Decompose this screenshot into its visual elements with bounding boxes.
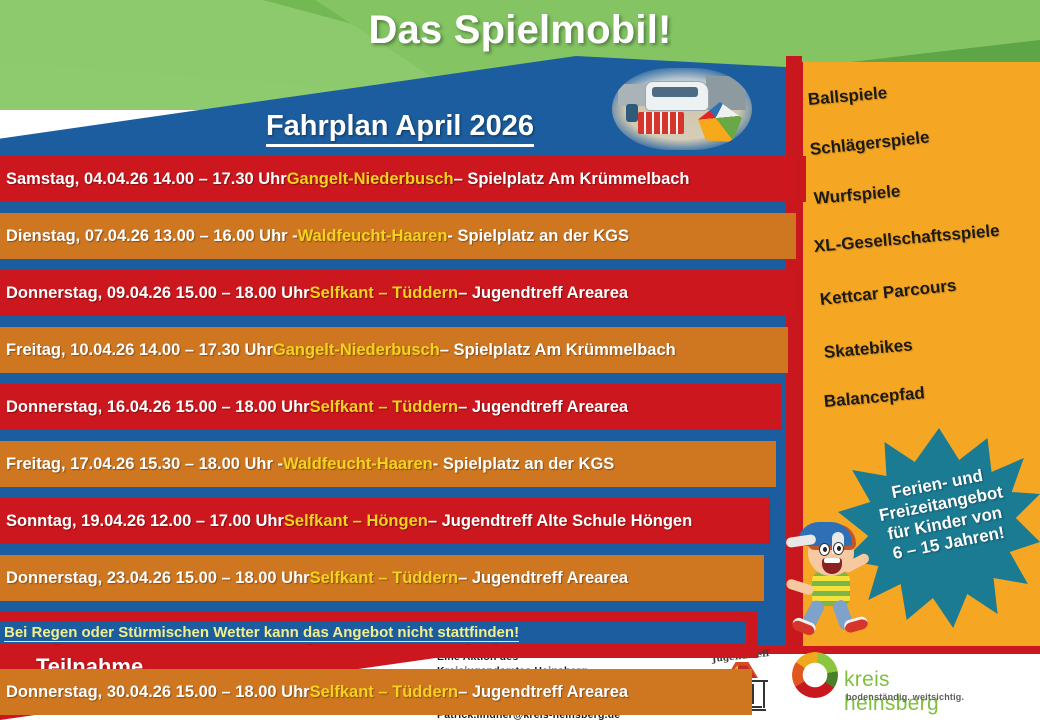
mascot-eye-right	[834, 543, 843, 554]
schedule-row-venue: – Jugendtreff Arearea	[458, 683, 628, 702]
schedule-row-location: Selfkant – Tüddern	[310, 284, 459, 303]
schedule-row-datetime: Donnerstag, 09.04.26 15.00 – 18.00 Uhr	[6, 284, 310, 303]
activity-item: XL-Gesellschaftsspiele	[813, 221, 1000, 257]
schedule-row: Donnerstag, 23.04.26 15.00 – 18.00 Uhr S…	[0, 555, 764, 601]
schedule-row-location: Selfkant – Tüddern	[310, 569, 459, 588]
schedule-row-venue: - Spielplatz an der KGS	[433, 455, 615, 474]
schedule-row-location: Waldfeucht-Haaren	[298, 227, 448, 246]
photo-van	[646, 82, 708, 110]
schedule-row-venue: – Spielplatz Am Krümmelbach	[454, 170, 690, 189]
activity-item: Ballspiele	[807, 83, 888, 110]
schedule-row-datetime: Dienstag, 07.04.26 13.00 – 16.00 Uhr -	[6, 227, 298, 246]
schedule-row-location: Selfkant – Tüddern	[310, 398, 459, 417]
photo-children	[626, 104, 638, 122]
schedule-row: Donnerstag, 09.04.26 15.00 – 18.00 Uhr S…	[0, 270, 794, 316]
schedule-row-location: Selfkant – Höngen	[284, 512, 428, 531]
schedule-row: Donnerstag, 16.04.26 15.00 – 18.00 Uhr S…	[0, 384, 782, 430]
schedule-row-datetime: Freitag, 17.04.26 15.30 – 18.00 Uhr -	[6, 455, 283, 474]
schedule-row-datetime: Freitag, 10.04.26 14.00 – 17.30 Uhr	[6, 341, 273, 360]
mascot-arm-left	[785, 578, 815, 596]
schedule-row-venue: – Jugendtreff Arearea	[458, 284, 628, 303]
schedule-row-venue: – Jugendtreff Alte Schule Höngen	[428, 512, 692, 531]
schedule-row-venue: – Spielplatz Am Krümmelbach	[440, 341, 676, 360]
schedule-row: Freitag, 10.04.26 14.00 – 17.30 Uhr Gang…	[0, 327, 788, 373]
schedule-row-venue: – Jugendtreff Arearea	[458, 398, 628, 417]
schedule-row-datetime: Samstag, 04.04.26 14.00 – 17.30 Uhr	[6, 170, 287, 189]
activity-item: Wurfspiele	[813, 181, 901, 208]
photo-building-left	[618, 84, 648, 106]
mascot-eye-left	[820, 544, 829, 555]
schedule-row-venue: – Jugendtreff Arearea	[458, 569, 628, 588]
activity-item: Schlägerspiele	[809, 128, 930, 160]
boy-mascot-icon	[778, 512, 896, 634]
schedule-row-location: Gangelt-Niederbusch	[287, 170, 454, 189]
schedule-row-location: Gangelt-Niederbusch	[273, 341, 440, 360]
kreis-heinsberg-claim: bodenständig. weitsichtig.	[846, 692, 964, 702]
schedule-row-venue: - Spielplatz an der KGS	[447, 227, 629, 246]
activity-item: Balancepfad	[823, 383, 925, 412]
schedule-row: Freitag, 17.04.26 15.30 – 18.00 Uhr - Wa…	[0, 441, 776, 487]
schedule-row: Sonntag, 19.04.26 12.00 – 17.00 Uhr Self…	[0, 498, 770, 544]
schedule-row-datetime: Donnerstag, 30.04.26 15.00 – 18.00 Uhr	[6, 683, 310, 702]
mascot-cap	[798, 522, 852, 546]
schedule-row-datetime: Donnerstag, 23.04.26 15.00 – 18.00 Uhr	[6, 569, 310, 588]
schedule-heading: Fahrplan April 2026	[170, 110, 630, 143]
page-title: Das Spielmobil!	[0, 8, 1040, 53]
schedule-row-location: Selfkant – Tüddern	[310, 683, 459, 702]
activity-item: Kettcar Parcours	[819, 276, 957, 310]
schedule-row: Dienstag, 07.04.26 13.00 – 16.00 Uhr - W…	[0, 213, 800, 259]
schedule-row-location: Waldfeucht-Haaren	[283, 455, 433, 474]
schedule-row-datetime: Donnerstag, 16.04.26 15.00 – 18.00 Uhr	[6, 398, 310, 417]
activity-item: Skatebikes	[823, 335, 913, 363]
schedule-row-datetime: Sonntag, 19.04.26 12.00 – 17.00 Uhr	[6, 512, 284, 531]
weather-note: Bei Regen oder Stürmischen Wetter kann d…	[0, 622, 746, 644]
photo-building-right	[706, 76, 746, 110]
weather-note-text: Bei Regen oder Stürmischen Wetter kann d…	[4, 624, 519, 642]
spielmobil-photo	[612, 68, 752, 150]
schedule-heading-text: Fahrplan April 2026	[266, 110, 534, 147]
poster-root: Das Spielmobil! Fahrplan April 2026 Sams…	[0, 0, 1040, 720]
schedule-row: Samstag, 04.04.26 14.00 – 17.30 Uhr Gang…	[0, 156, 806, 202]
photo-crates	[638, 112, 684, 134]
kreis-heinsberg-logo: kreis heinsberg bodenständig. weitsichti…	[792, 650, 972, 714]
schedule-row: Donnerstag, 30.04.26 15.00 – 18.00 Uhr S…	[0, 669, 752, 715]
